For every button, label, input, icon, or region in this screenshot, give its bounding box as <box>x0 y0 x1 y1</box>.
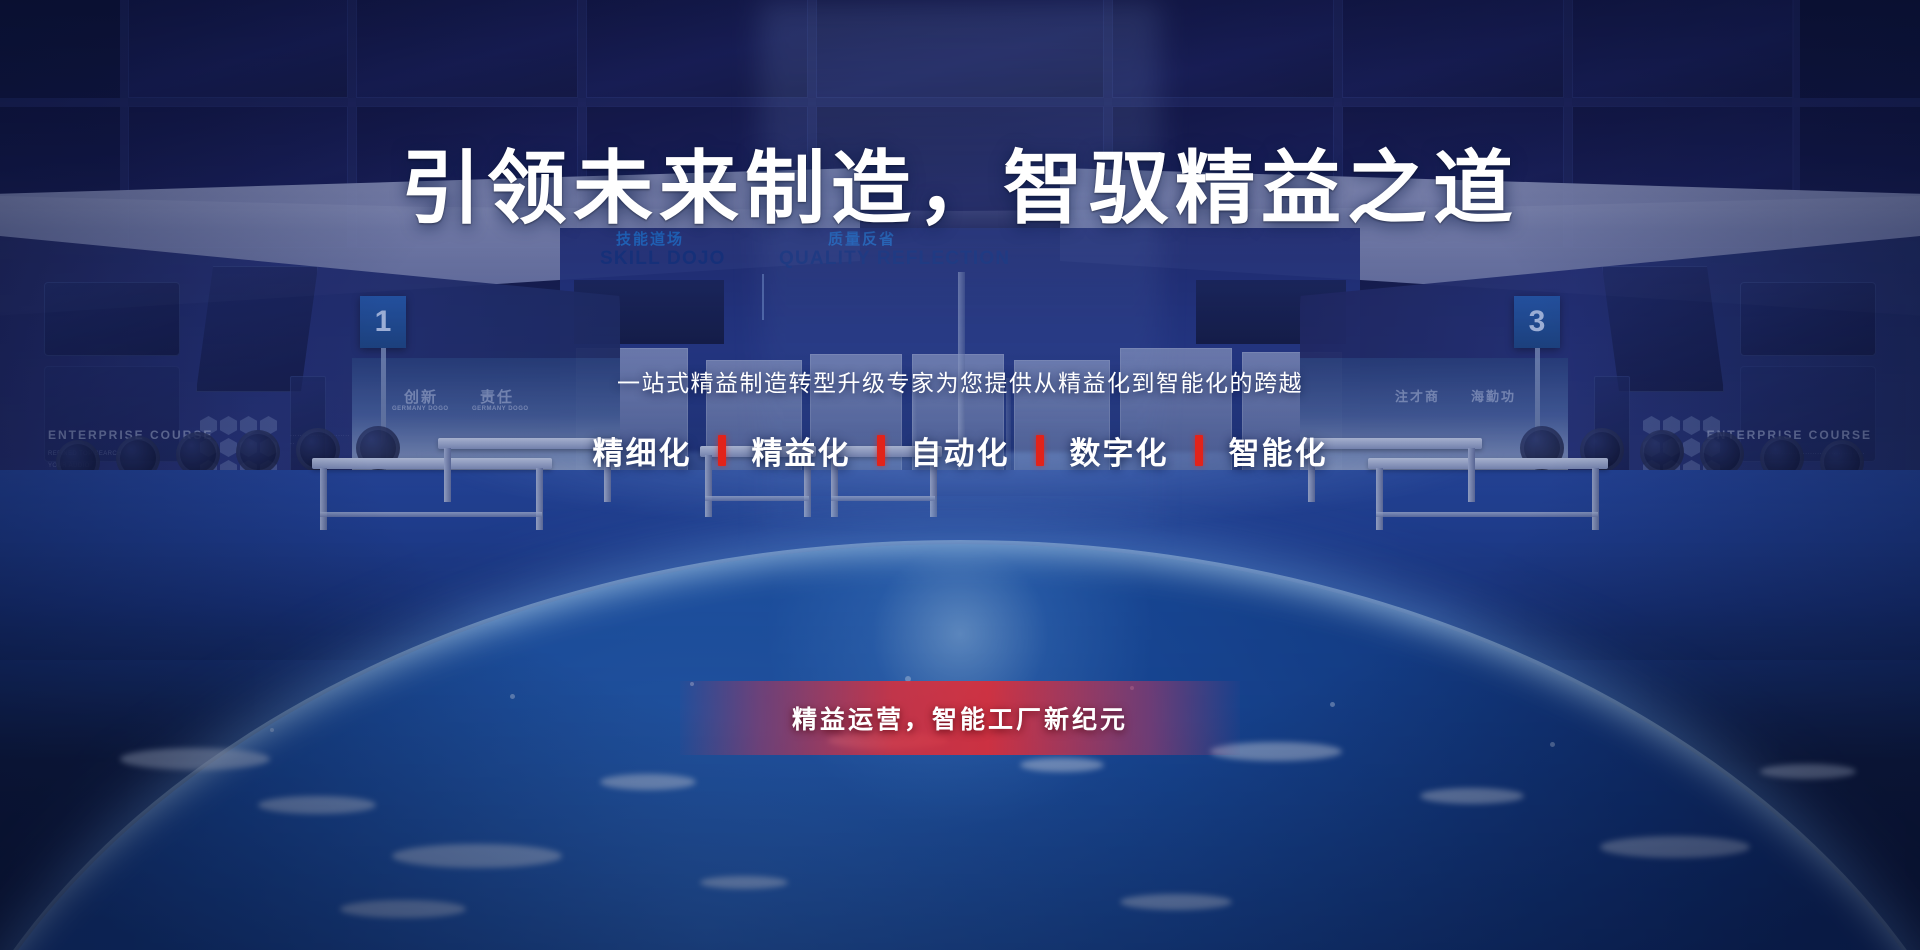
banner-subtitle: 一站式精益制造转型升级专家为您提供从精益化到智能化的跨越 <box>0 364 1920 398</box>
keyword-list: 精细化 精益化 自动化 数字化 智能化 <box>0 428 1920 473</box>
keyword-item: 精益化 <box>728 428 875 473</box>
tagline-text: 精益运营，智能工厂新纪元 <box>792 700 1128 736</box>
keyword-separator-icon <box>877 435 885 466</box>
keyword-separator-icon <box>1036 435 1044 466</box>
keyword-item: 智能化 <box>1205 428 1352 473</box>
tagline-ribbon: 精益运营，智能工厂新纪元 <box>680 681 1240 755</box>
page-title: 引领未来制造，智驭精益之道 <box>0 124 1920 240</box>
banner-content: 引领未来制造，智驭精益之道 一站式精益制造转型升级专家为您提供从精益化到智能化的… <box>0 0 1920 950</box>
keyword-item: 数字化 <box>1046 428 1193 473</box>
keyword-item: 精细化 <box>569 428 716 473</box>
keyword-separator-icon <box>718 435 726 466</box>
keyword-separator-icon <box>1195 435 1203 466</box>
keyword-item: 自动化 <box>887 428 1034 473</box>
banner-stage: 技能道场 SKILL DOJO 质量反省 QUALITY REFLECTION … <box>0 0 1920 950</box>
